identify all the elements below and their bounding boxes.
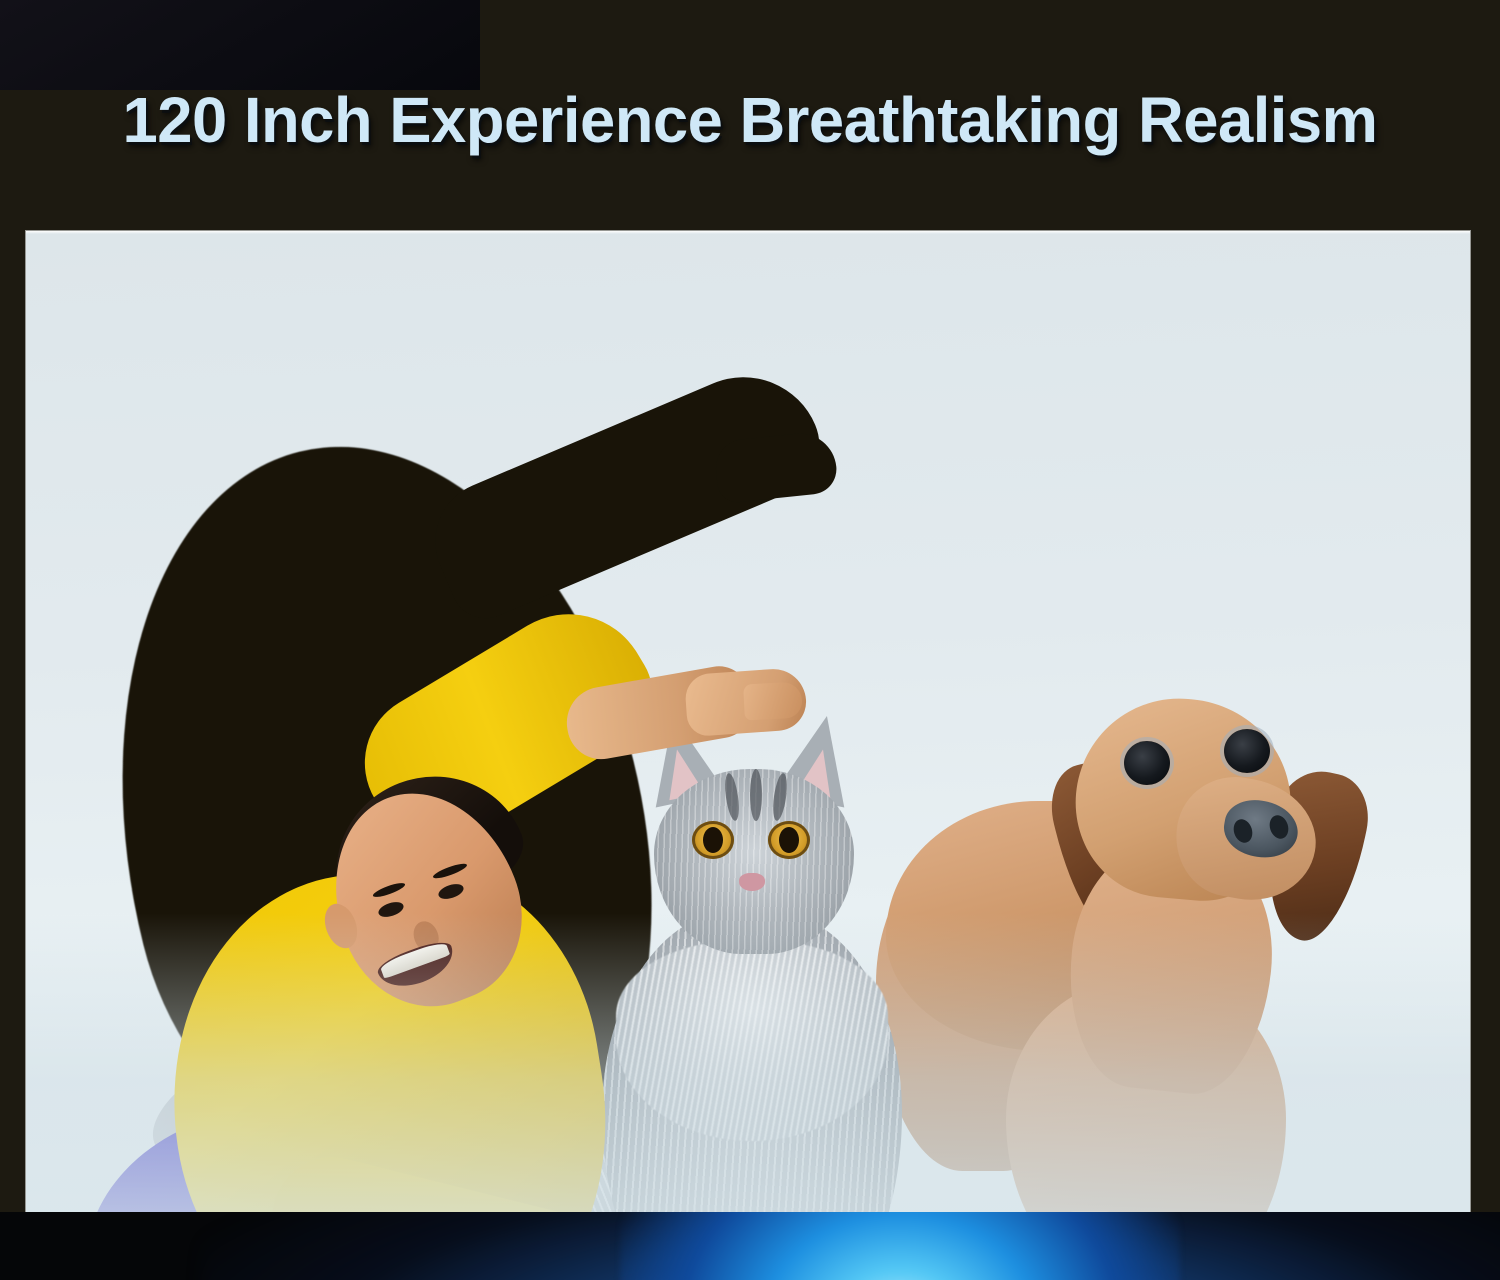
- projection-screen: [26, 231, 1470, 1213]
- cat-right-pupil: [779, 827, 799, 853]
- cat-figure: [554, 711, 954, 1213]
- projector-light-burst: [0, 1212, 1500, 1280]
- cat-nose: [739, 873, 765, 891]
- dog-left-eye: [1124, 741, 1170, 785]
- man-raised-hand-fingers: [743, 682, 803, 721]
- dog-figure: [876, 651, 1436, 1213]
- dog-right-eye: [1224, 729, 1270, 773]
- man-pants-overflow: [0, 0, 480, 90]
- product-marketing-image: 120 Inch Experience Breathtaking Realism: [0, 0, 1500, 1280]
- cat-forehead-stripe: [750, 769, 762, 821]
- light-core: [620, 1212, 1180, 1280]
- cat-chest-ruff: [616, 941, 888, 1141]
- page-title: 120 Inch Experience Breathtaking Realism: [8, 88, 1493, 152]
- cat-left-pupil: [703, 827, 723, 853]
- man-shadow-hand: [713, 430, 839, 504]
